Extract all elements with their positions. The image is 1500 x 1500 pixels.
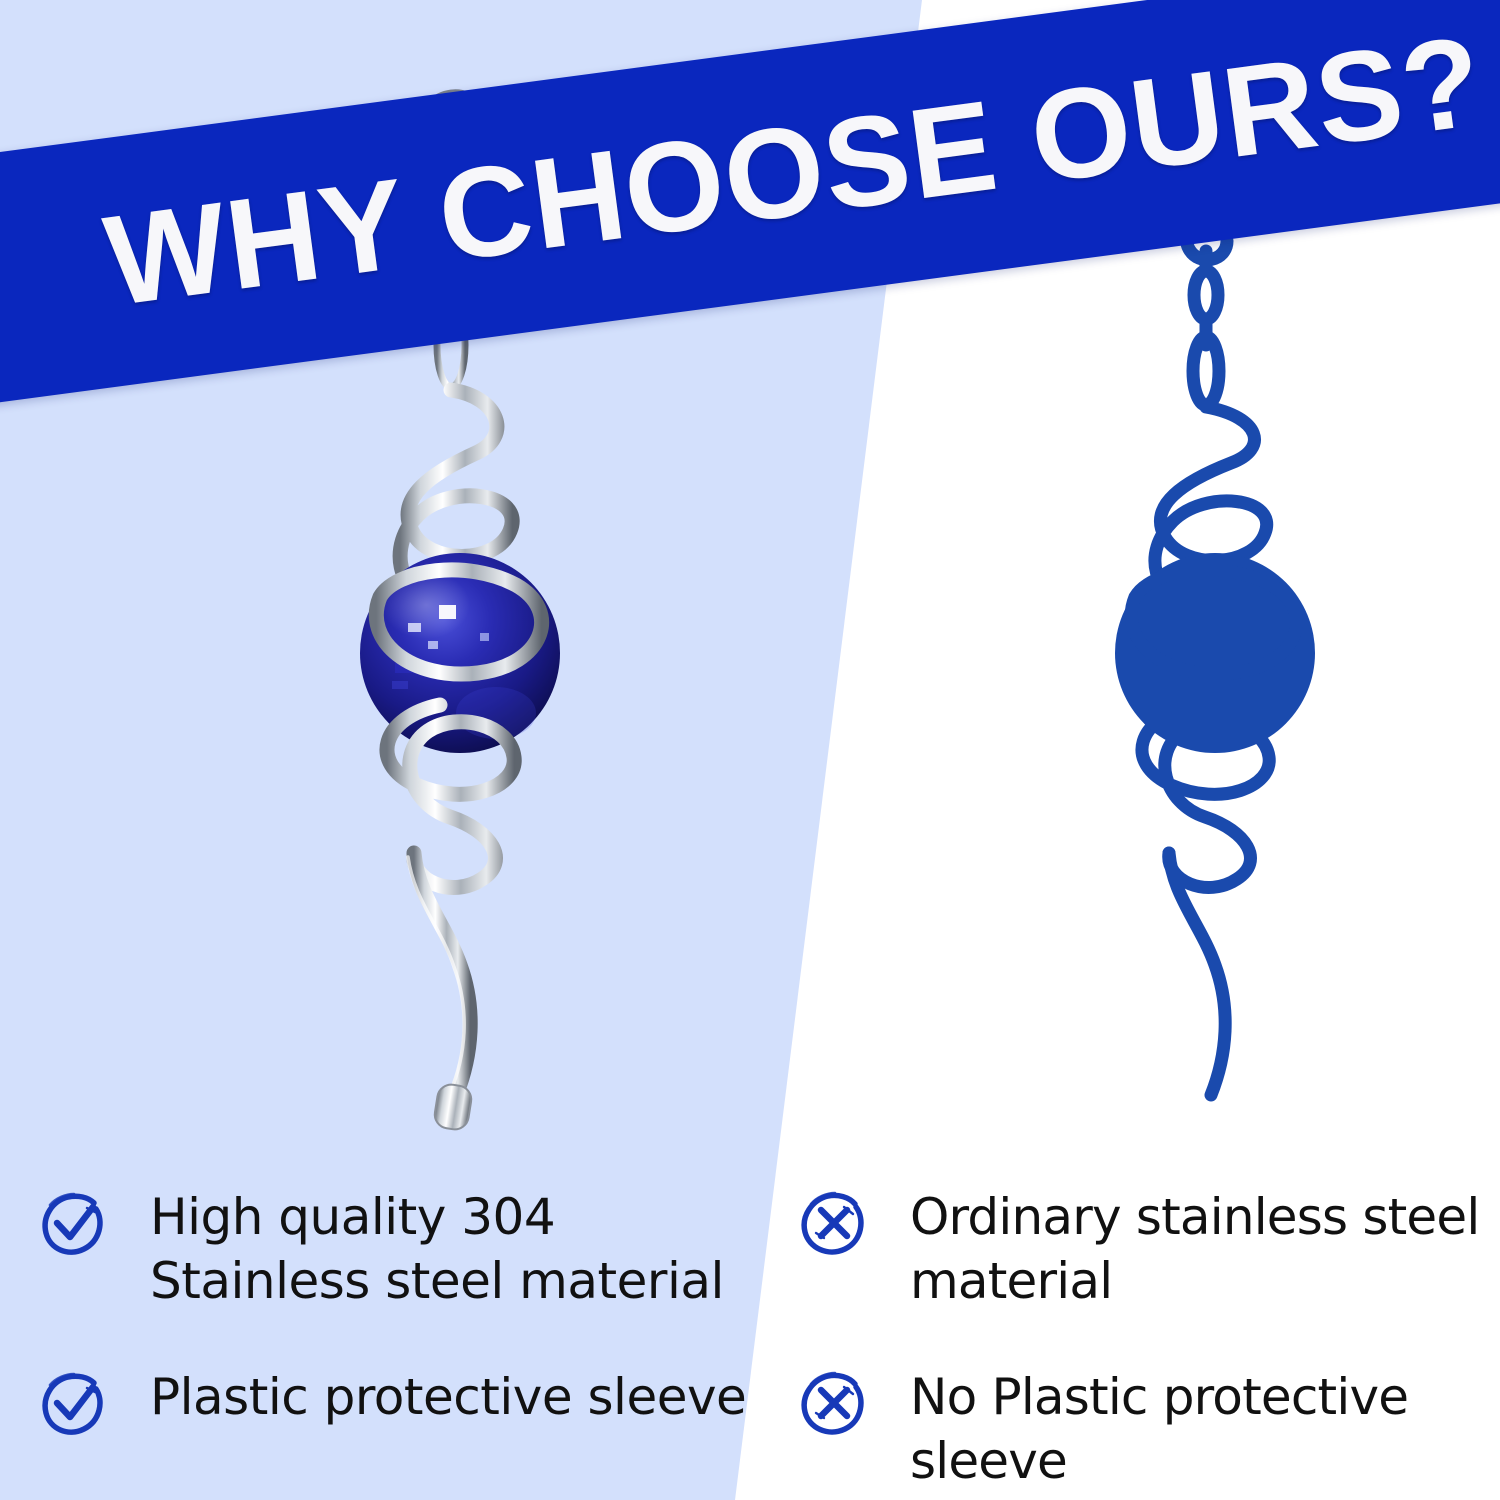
check-circle-icon (40, 1189, 108, 1257)
list-item: Ordinary stainless steel material (800, 1185, 1490, 1313)
plastic-protective-sleeve (433, 1083, 473, 1132)
list-item: Plastic protective sleeve (40, 1365, 770, 1437)
list-item-label: Plastic protective sleeve (150, 1365, 746, 1429)
bad-feature-list: Ordinary stainless steel material No Pla… (800, 1185, 1490, 1500)
x-circle-icon (800, 1369, 868, 1437)
list-item: No Plastic protective sleeve (800, 1365, 1490, 1493)
list-item: High quality 304 Stainless steel materia… (40, 1185, 770, 1313)
list-item-label: High quality 304 Stainless steel materia… (150, 1185, 770, 1313)
check-circle-icon (40, 1369, 108, 1437)
x-circle-icon (800, 1189, 868, 1257)
promo-image-canvas: WHY CHOOSE OURS? High quality 304 Stainl… (0, 0, 1500, 1500)
list-item-label: Ordinary stainless steel material (910, 1185, 1490, 1313)
list-item-label: No Plastic protective sleeve (910, 1365, 1490, 1493)
good-feature-list: High quality 304 Stainless steel materia… (40, 1185, 770, 1489)
